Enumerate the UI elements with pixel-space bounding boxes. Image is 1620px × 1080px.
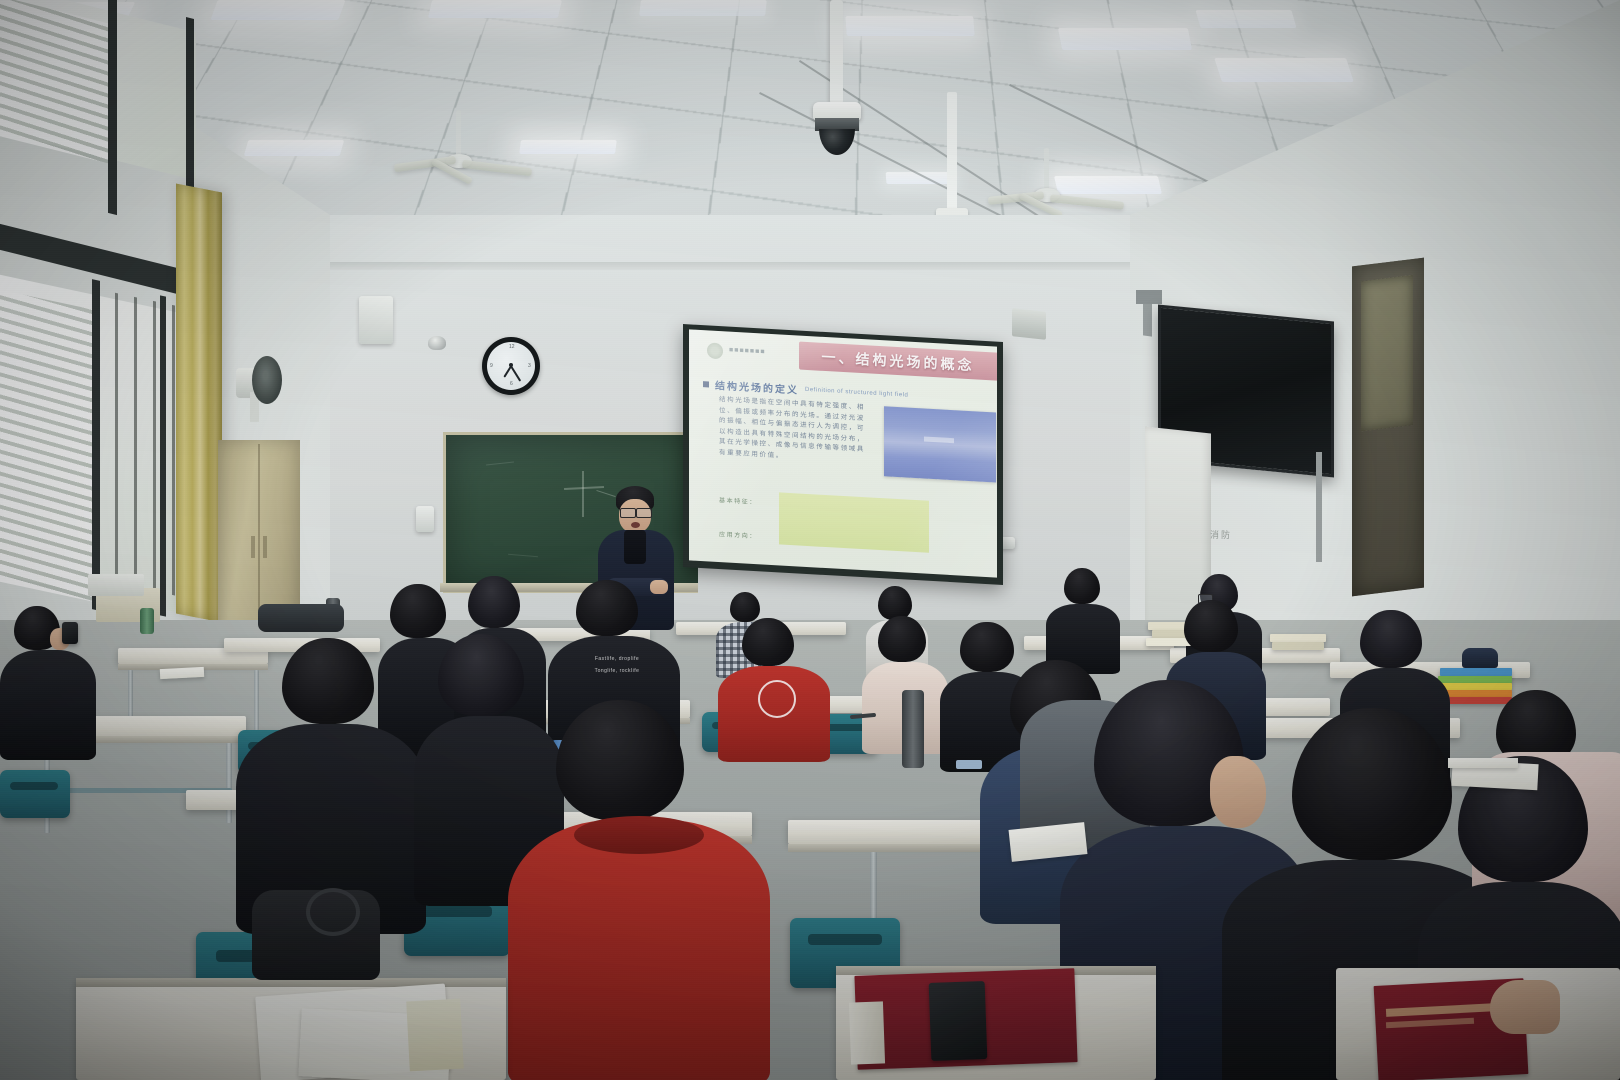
textbook-red-pages — [849, 1001, 885, 1064]
papers-back-right — [1448, 758, 1518, 768]
slide-note-label-2: 应用方向： — [719, 529, 757, 540]
tv-wall-bracket — [1136, 290, 1162, 304]
book-stack-right — [1270, 634, 1326, 642]
classroom-photo: EPSON — [0, 0, 1620, 1080]
ceiling-fan-left — [400, 110, 520, 190]
chalk-mark — [564, 486, 604, 490]
smartphone-on-book[interactable] — [929, 981, 988, 1061]
slide-bullet-en: Definition of structured light field — [805, 386, 908, 398]
book-stack-right — [1272, 642, 1324, 650]
student-head — [878, 616, 926, 662]
student-head — [1360, 610, 1422, 668]
wall-dome-sensor — [428, 336, 446, 350]
clock-face: 12 3 6 9 — [487, 342, 535, 390]
thermos-bottle[interactable] — [902, 690, 924, 768]
back-wall-band — [300, 262, 1180, 270]
cabinet-handle — [251, 536, 255, 558]
wall-speaker-left — [1012, 308, 1046, 340]
camera-pole — [830, 0, 843, 104]
eyeglasses-icon — [636, 508, 652, 518]
student-torso — [508, 820, 770, 1080]
ceiling-light — [845, 16, 974, 36]
student-head — [742, 618, 794, 666]
window-louvers-upper — [0, 0, 110, 164]
tissue-box — [88, 574, 144, 596]
chalk-mark — [508, 554, 538, 558]
projector-pole — [947, 92, 957, 212]
colorful-book-stack — [1440, 683, 1512, 690]
smartphone[interactable] — [62, 622, 78, 644]
chalk-mark — [596, 490, 615, 497]
slide-title-bar: 一、结构光场的概念 — [799, 342, 997, 381]
slide-bullet-zh: 结构光场的定义 — [715, 377, 799, 397]
desk-leg — [226, 743, 232, 823]
wall-clock: 12 3 6 9 — [482, 337, 540, 395]
wall-control-box[interactable] — [359, 296, 393, 344]
slide-title: 一、结构光场的概念 — [822, 347, 975, 376]
projection-screen: ■■■■■■■ 一、结构光场的概念 结构光场的定义 Definition of … — [683, 324, 1003, 585]
chalk-mark — [486, 462, 514, 466]
notebook-edge-yellow — [406, 999, 464, 1072]
eraser-item — [956, 760, 982, 769]
slide-note-label-1: 基本特征： — [719, 495, 757, 506]
chair-slot — [422, 906, 492, 917]
clock-numeral: 3 — [528, 363, 531, 369]
student-pink-jacket — [1472, 690, 1576, 766]
slide-figure-intensity-map — [884, 406, 996, 482]
clock-minute-hand — [510, 365, 521, 381]
ceiling-light — [639, 0, 767, 16]
hoodie-collar — [574, 816, 704, 854]
security-camera — [806, 82, 878, 194]
jacket-print-line-2: Tonglife, rocklife — [572, 668, 662, 674]
chair[interactable] — [0, 770, 70, 818]
student-hand-farright — [1490, 980, 1560, 1034]
window-mullion — [92, 279, 100, 611]
door-sign-label: 消防 — [1210, 528, 1232, 541]
clock-numeral: 12 — [509, 344, 515, 350]
clock-numeral: 6 — [510, 381, 513, 387]
student-head — [390, 584, 446, 638]
clock-numeral: 9 — [490, 363, 493, 369]
fan-rod — [1044, 148, 1049, 192]
instructor-shirt-collar — [624, 530, 646, 564]
student-head — [576, 580, 638, 636]
university-logo-icon — [707, 342, 723, 359]
wall-fan — [236, 350, 296, 424]
door-window — [1361, 275, 1413, 431]
window-mullion — [160, 295, 166, 616]
door-right[interactable] — [1352, 258, 1424, 597]
bullet-square-icon — [703, 381, 709, 387]
student-torso — [0, 650, 96, 760]
student-red-hoodie-front — [508, 700, 770, 1080]
student-head — [282, 638, 374, 724]
tv-support-post — [1316, 452, 1322, 562]
bag-on-desk-left — [258, 604, 344, 632]
window-curtain — [176, 184, 222, 623]
student-head — [468, 576, 520, 628]
jacket-print-line-1: Fastlife, droplife — [572, 656, 662, 662]
ceiling-light — [428, 0, 562, 18]
ceiling-light — [1214, 58, 1354, 82]
projected-slide: ■■■■■■■ 一、结构光场的概念 结构光场的定义 Definition of … — [689, 329, 997, 577]
student-head — [1064, 568, 1100, 604]
bag-on-books — [1462, 648, 1498, 668]
chair-slot — [808, 934, 882, 945]
cabinet-handle — [263, 536, 267, 558]
camera-dome — [819, 129, 855, 155]
student-head — [556, 700, 684, 820]
slide-note-box — [779, 492, 929, 552]
window-mullion — [108, 0, 117, 215]
clock-center-pin — [509, 363, 513, 367]
university-name-label: ■■■■■■■ — [729, 347, 766, 356]
slide-body-text: 结构光场是指在空间中具有特定强度、相位、偏振或频率分布的光场。通过对光波的振幅、… — [719, 395, 865, 466]
ceiling-light — [244, 140, 345, 156]
figure-highlight-band — [924, 437, 954, 444]
student-left-suit — [0, 606, 96, 760]
chalk-mark — [582, 471, 584, 517]
student-head — [878, 586, 912, 620]
backpack-strap — [306, 888, 360, 936]
colorful-book-stack — [1440, 668, 1512, 676]
wall-fan-head — [252, 356, 282, 404]
eyeglasses-icon — [620, 508, 636, 518]
fan-blade — [1050, 194, 1124, 210]
ceiling-light — [1195, 10, 1296, 28]
wall-outlet-panel[interactable] — [416, 506, 434, 532]
ceiling-light — [1058, 28, 1192, 50]
ceiling-light — [519, 140, 617, 154]
window-louvers-lower — [0, 290, 96, 602]
student-back-3 — [1046, 568, 1120, 674]
fan-rod — [456, 110, 461, 158]
student-head — [1184, 600, 1238, 652]
bottle-green[interactable] — [140, 608, 154, 634]
instructor-mouth — [631, 522, 640, 528]
chair-slot — [10, 782, 58, 790]
